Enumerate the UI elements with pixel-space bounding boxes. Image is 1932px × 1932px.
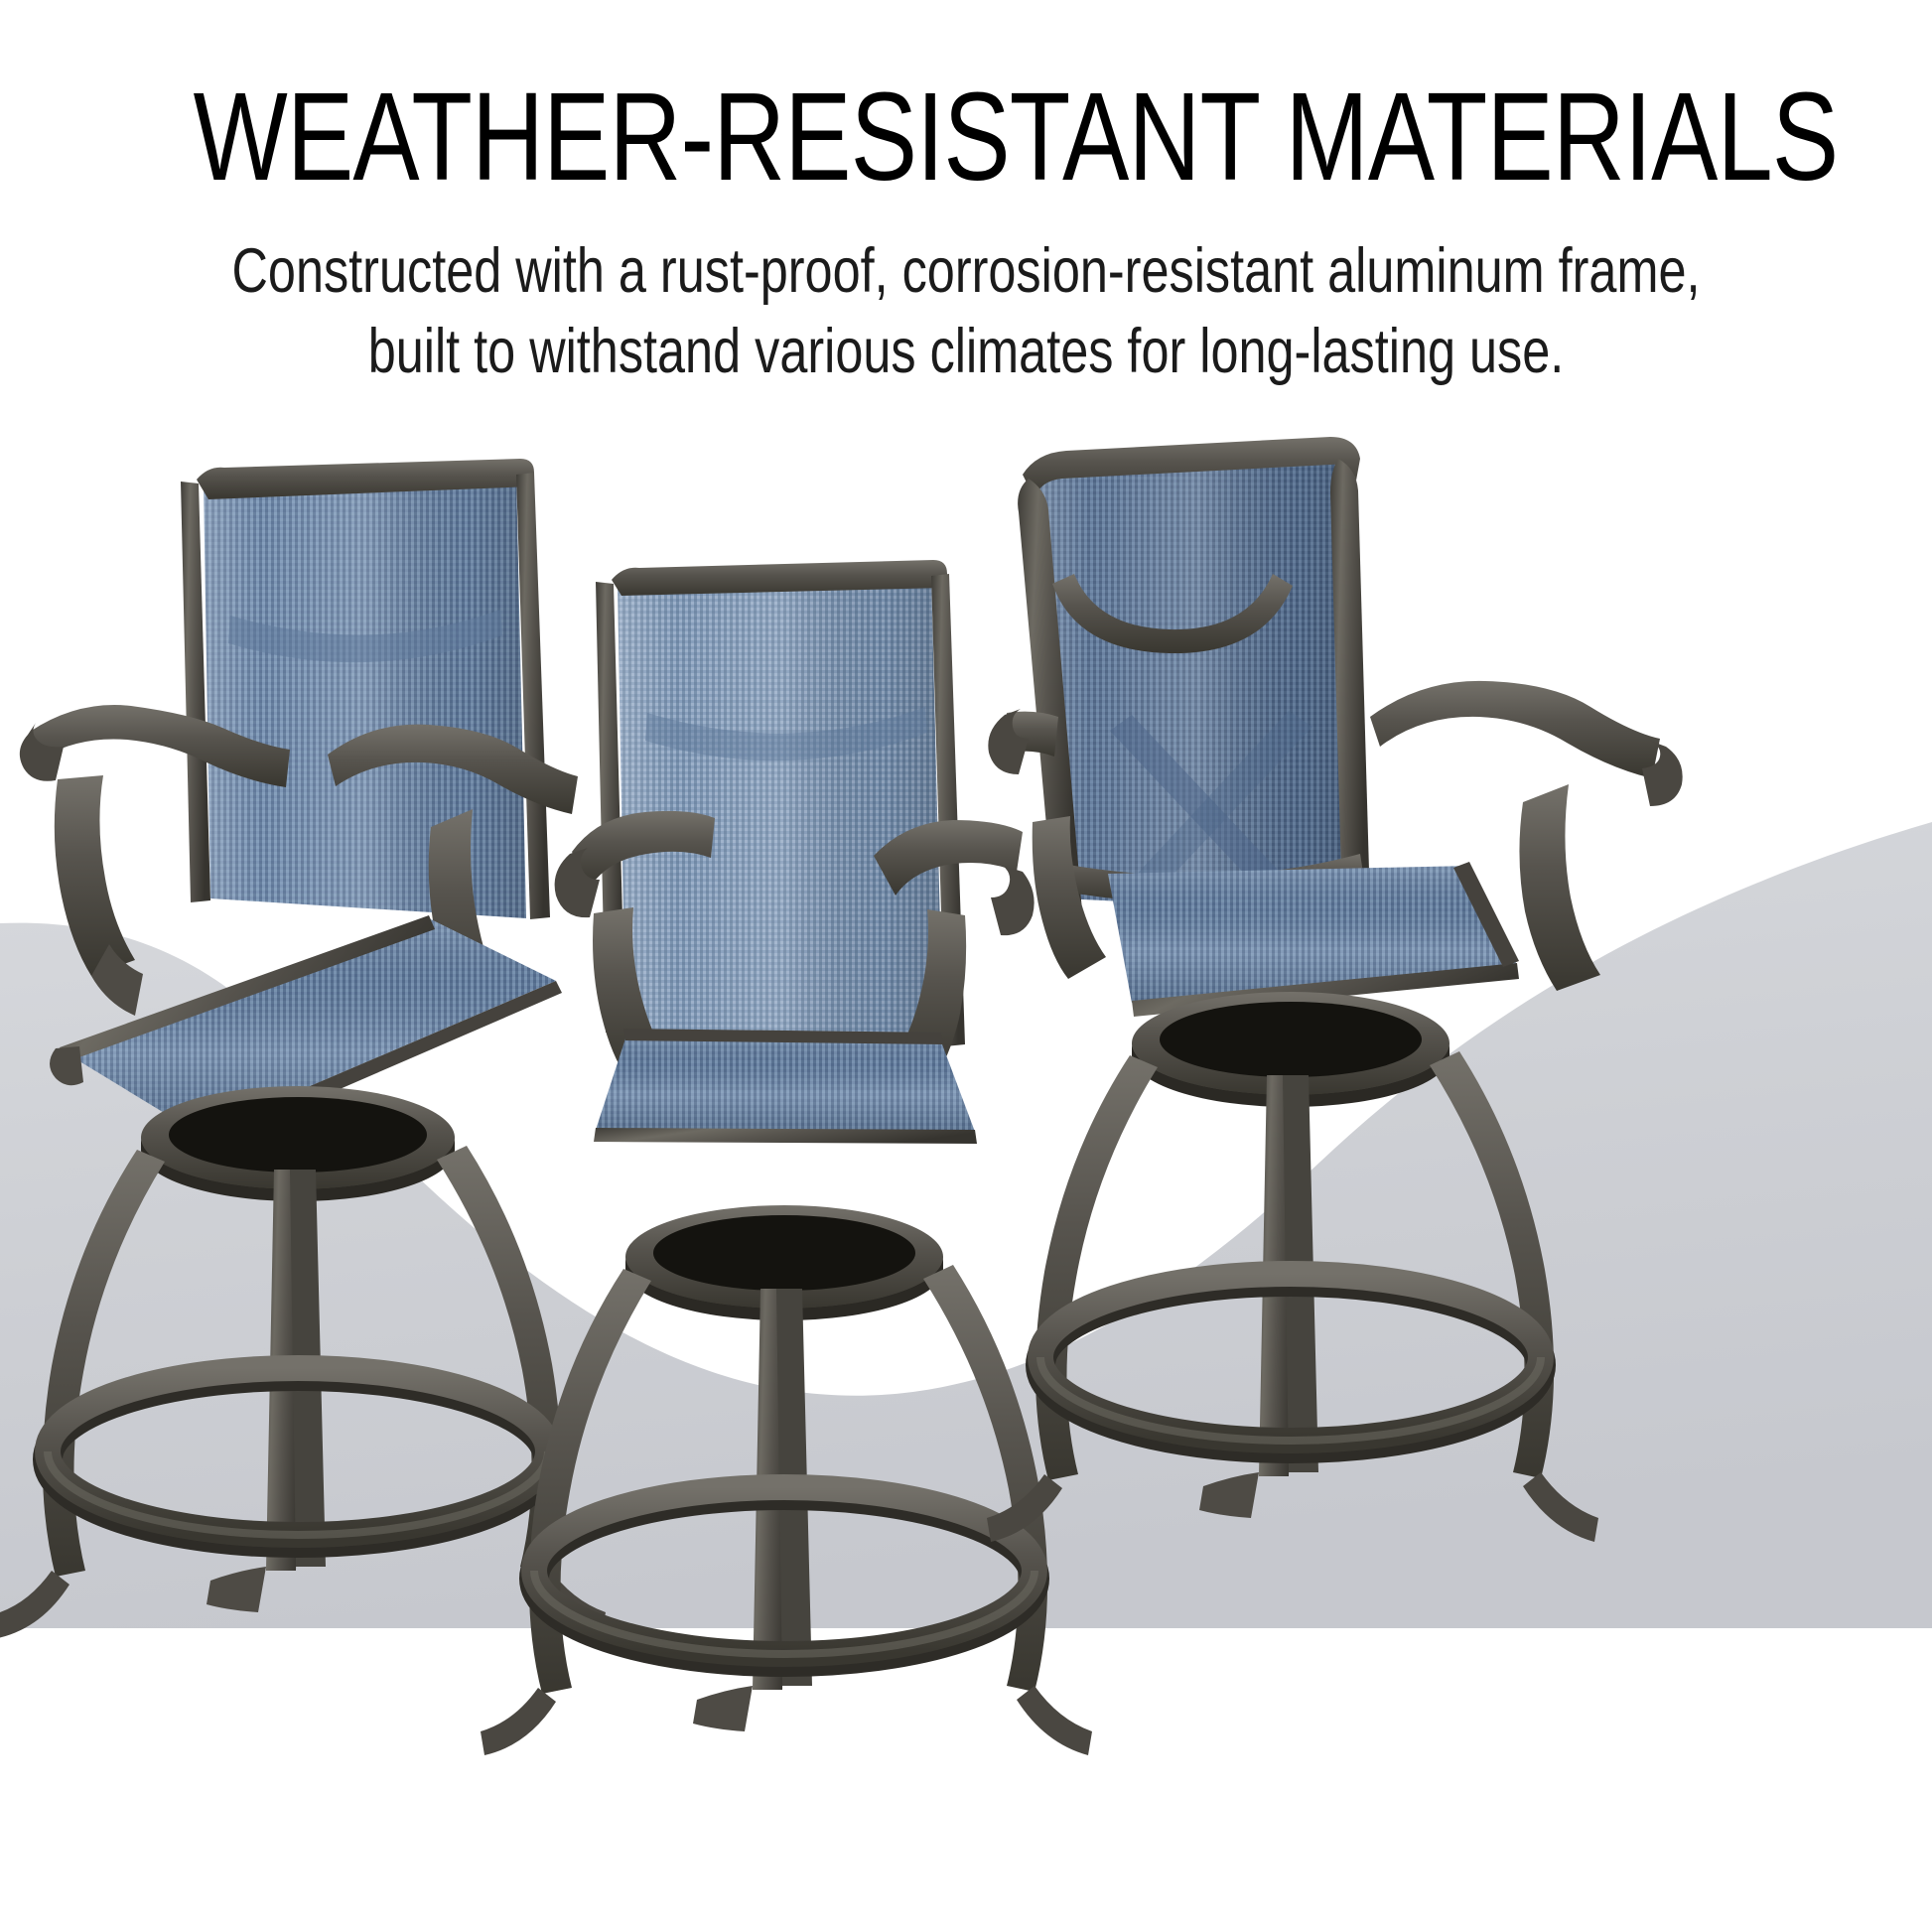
seat-sling	[596, 1033, 975, 1132]
copy-block: WEATHER-RESISTANT MATERIALS Constructed …	[0, 0, 1932, 393]
page-subtitle: Constructed with a rust-proof, corrosion…	[194, 202, 1739, 394]
subtitle-line-2: built to withstand various climates for …	[194, 312, 1739, 393]
backrest-sling	[1033, 459, 1362, 913]
page-title: WEATHER-RESISTANT MATERIALS	[194, 0, 1739, 202]
backrest-sling	[204, 475, 526, 918]
list-item	[987, 437, 1683, 1542]
subtitle-line-1: Constructed with a rust-proof, corrosion…	[232, 236, 1701, 306]
list-item	[0, 459, 606, 1638]
product-feature-banner: WEATHER-RESISTANT MATERIALS Constructed …	[0, 0, 1932, 1932]
backrest-sling	[618, 576, 943, 1044]
